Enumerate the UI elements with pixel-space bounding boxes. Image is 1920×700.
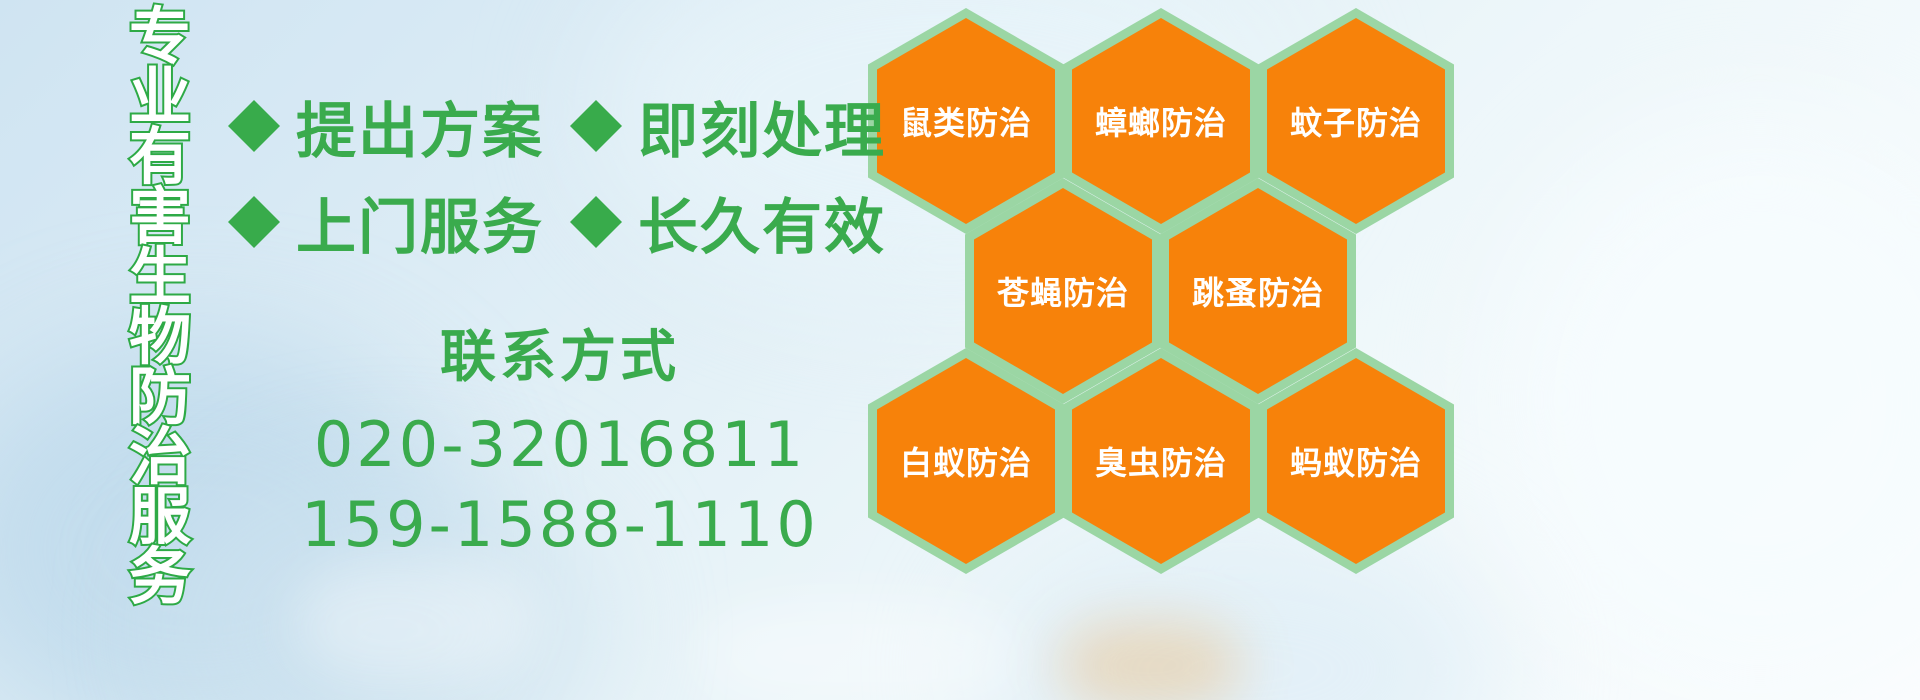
- service-label: 跳蚤防治: [1192, 268, 1324, 314]
- feature-label: 上门服务: [296, 179, 544, 266]
- feature-item-onsite-service: 上门服务: [228, 179, 544, 266]
- diamond-icon: [228, 170, 280, 222]
- vertical-headline-char: 专: [129, 8, 191, 66]
- feature-item-immediate-handling: 即刻处理: [570, 83, 886, 170]
- diamond-icon: [228, 74, 280, 126]
- contact-block: 联系方式 020-32016811 159-1588-1110: [300, 312, 820, 565]
- background-streak: [700, 600, 1020, 700]
- vertical-headline-char: 务: [129, 548, 191, 606]
- feature-item-propose-plan: 提出方案: [228, 83, 544, 170]
- contact-phone-landline[interactable]: 020-32016811: [300, 405, 820, 485]
- background-streak: [1060, 620, 1240, 700]
- vertical-headline-char: 业: [129, 68, 191, 126]
- diamond-icon: [570, 74, 622, 126]
- service-label: 蚊子防治: [1290, 98, 1422, 144]
- feature-row: 提出方案 即刻处理: [228, 78, 886, 174]
- service-label: 白蚁防治: [900, 438, 1032, 484]
- service-label: 鼠类防治: [900, 98, 1032, 144]
- service-hexagon-grid: 鼠类防治 蟑螂防治 蚊子防治 苍蝇防治 跳蚤防治 白蚁防治 臭虫防治: [860, 0, 1480, 560]
- vertical-headline-char: 有: [129, 128, 191, 186]
- diamond-icon: [570, 170, 622, 222]
- service-label: 蟑螂防治: [1095, 98, 1227, 144]
- background-streak: [300, 560, 540, 680]
- vertical-headline: 专 业 有 害 生 物 防 治 服 务: [108, 8, 212, 608]
- vertical-headline-char: 防: [129, 368, 191, 426]
- vertical-headline-char: 生: [129, 248, 191, 306]
- vertical-headline-char: 治: [129, 428, 191, 486]
- feature-item-long-lasting: 长久有效: [570, 179, 886, 266]
- feature-list: 提出方案 即刻处理 上门服务 长久有效: [228, 78, 886, 270]
- background-blob: [1500, 120, 1920, 680]
- feature-label: 即刻处理: [638, 83, 886, 170]
- service-label: 蚂蚁防治: [1290, 438, 1422, 484]
- vertical-headline-char: 服: [129, 488, 191, 546]
- service-label: 臭虫防治: [1095, 438, 1227, 484]
- vertical-headline-char: 害: [129, 188, 191, 246]
- contact-phone-mobile[interactable]: 159-1588-1110: [300, 485, 820, 565]
- feature-label: 长久有效: [638, 179, 886, 266]
- feature-row: 上门服务 长久有效: [228, 174, 886, 270]
- vertical-headline-char: 物: [129, 308, 191, 366]
- contact-label: 联系方式: [300, 312, 820, 393]
- pest-control-banner: 专 业 有 害 生 物 防 治 服 务 提出方案 即刻处理 上门服务: [0, 0, 1920, 700]
- feature-label: 提出方案: [296, 83, 544, 170]
- service-label: 苍蝇防治: [997, 268, 1129, 314]
